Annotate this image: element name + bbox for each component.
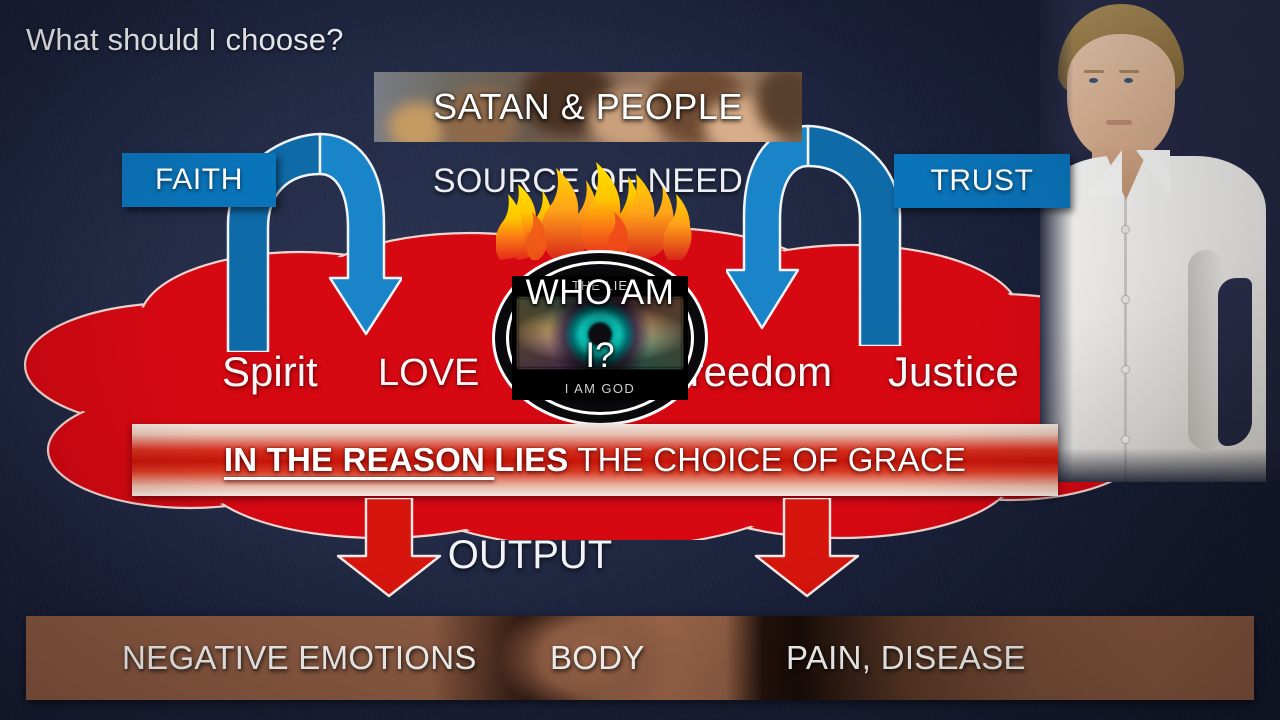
- output-label: OUTPUT: [0, 533, 1060, 578]
- trust-label: TRUST: [931, 164, 1034, 198]
- presenter-photo: [1040, 0, 1280, 482]
- reason-banner: IN THE REASON LIES THE CHOICE OF GRACE: [132, 424, 1058, 496]
- bottom-bar-item-pain-disease: PAIN, DISEASE: [786, 616, 1026, 700]
- bottom-bar-item-body: BODY: [550, 616, 645, 700]
- curved-arch-arrow-right-icon: [726, 118, 918, 346]
- person-eye-left: [1089, 78, 1098, 83]
- cloud-word-spirit: Spirit: [222, 348, 318, 396]
- person-eyebrow-right: [1119, 70, 1139, 73]
- bottom-bar-item-negative-emotions: NEGATIVE EMOTIONS: [122, 616, 477, 700]
- cloud-word-justice: Justice: [888, 348, 1019, 396]
- flame-icon: [496, 148, 692, 260]
- output-results-bar: NEGATIVE EMOTIONS BODY PAIN, DISEASE: [26, 616, 1254, 700]
- satan-and-people-label: SATAN & PEOPLE: [374, 72, 802, 142]
- person-shirt-button: [1122, 366, 1129, 373]
- person-shirt-button: [1122, 436, 1129, 443]
- i-am-god-label: I AM GOD: [512, 381, 688, 396]
- person-arm-gap: [1218, 278, 1252, 446]
- satan-and-people-banner: SATAN & PEOPLE: [374, 72, 802, 142]
- person-collar-left: [1088, 150, 1122, 196]
- person-shirt-button: [1122, 296, 1129, 303]
- faith-label-box[interactable]: FAITH: [122, 153, 276, 207]
- reason-banner-text: IN THE REASON LIES THE CHOICE OF GRACE: [224, 441, 966, 479]
- person-eyebrow-left: [1084, 70, 1104, 73]
- person-eye-right: [1124, 78, 1133, 83]
- page-title: What should I choose?: [26, 22, 343, 58]
- cloud-word-love: LOVE: [378, 352, 479, 395]
- person-collar-right: [1136, 150, 1170, 196]
- slide-stage: SATAN & PEOPLE SOURCE OF NEED: [0, 0, 1280, 720]
- reason-part-regular: THE CHOICE OF GRACE: [569, 441, 967, 478]
- faith-label: FAITH: [155, 163, 243, 197]
- who-am-i-line2: I?: [492, 336, 708, 376]
- trust-label-box[interactable]: TRUST: [894, 154, 1070, 208]
- person-mouth: [1106, 120, 1132, 125]
- who-am-i-circle: THE LIE I AM GOD WHO AM I?: [492, 250, 708, 426]
- person-shirt-button: [1122, 226, 1129, 233]
- reason-part-bold-underline: IN THE REASON: [224, 441, 495, 478]
- who-am-i-line1: WHO AM: [492, 276, 708, 309]
- reason-part-bold: LIES: [494, 441, 568, 478]
